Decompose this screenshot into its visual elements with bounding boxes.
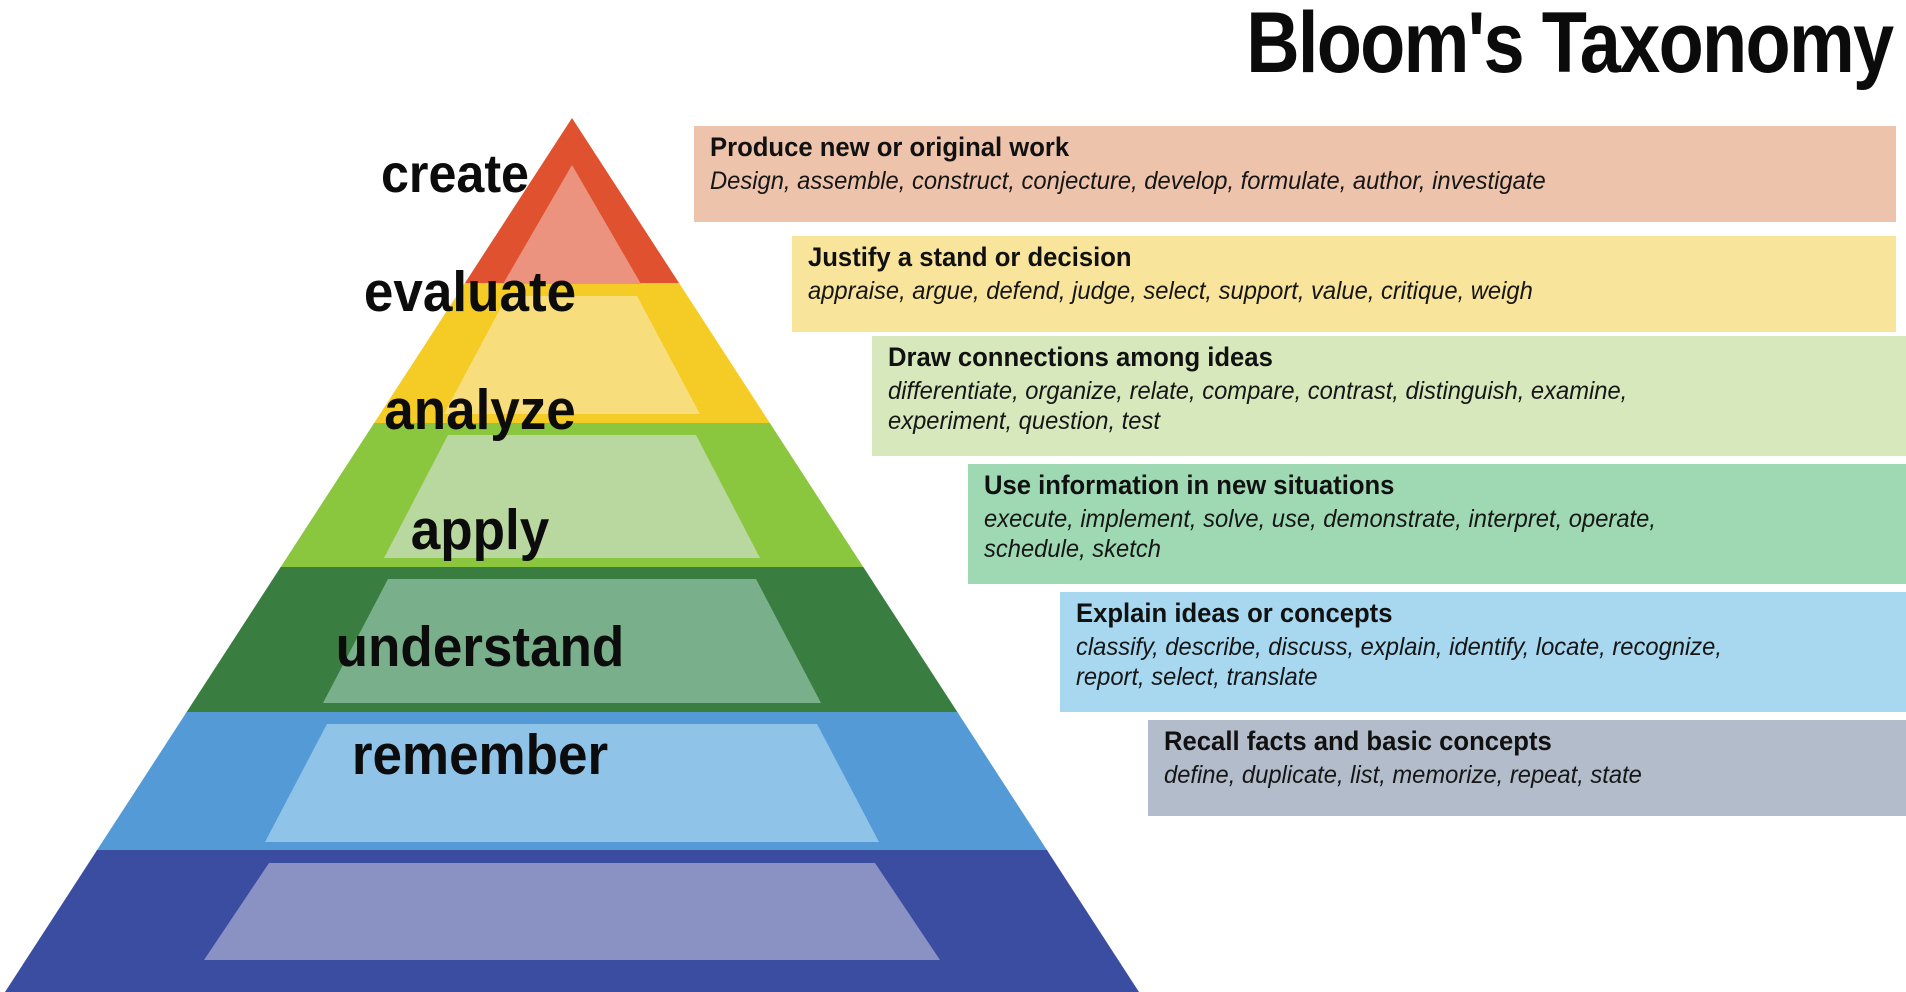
tier-label-create: create <box>339 143 572 205</box>
verb-line: report, select, translate <box>1076 662 1865 692</box>
callout-verbs-remember: define, duplicate, list, memorize, repea… <box>1164 760 1869 790</box>
verb-line: Design, assemble, construct, conjecture,… <box>710 166 1837 196</box>
callout-understand: Explain ideas or concepts classify, desc… <box>1060 592 1906 712</box>
callout-create: Produce new or original work Design, ass… <box>694 126 1896 222</box>
callout-analyze: Draw connections among ideas differentia… <box>872 336 1906 456</box>
tier-label-analyze: analyze <box>331 377 629 443</box>
callout-headline-remember: Recall facts and basic concepts <box>1164 726 1869 758</box>
band-remember-fill <box>204 863 940 960</box>
callout-verbs-create: Design, assemble, construct, conjecture,… <box>710 166 1837 196</box>
verb-line: define, duplicate, list, memorize, repea… <box>1164 760 1869 790</box>
tier-label-understand: understand <box>275 614 684 680</box>
page-title: Bloom's Taxonomy <box>1246 0 1892 88</box>
verb-line: classify, describe, discuss, explain, id… <box>1076 632 1865 662</box>
verb-line: differentiate, organize, relate, compare… <box>888 376 1855 406</box>
callout-remember: Recall facts and basic concepts define, … <box>1148 720 1906 816</box>
verb-line: experiment, question, test <box>888 406 1855 436</box>
callout-verbs-apply: execute, implement, solve, use, demonstr… <box>984 504 1860 564</box>
callout-headline-create: Produce new or original work <box>710 132 1837 164</box>
verb-line: schedule, sketch <box>984 534 1860 564</box>
callout-headline-evaluate: Justify a stand or decision <box>808 242 1842 274</box>
callout-evaluate: Justify a stand or decision appraise, ar… <box>792 236 1896 332</box>
verb-line: appraise, argue, defend, judge, select, … <box>808 276 1842 306</box>
callout-headline-analyze: Draw connections among ideas <box>888 342 1855 374</box>
callout-verbs-understand: classify, describe, discuss, explain, id… <box>1076 632 1865 692</box>
tier-label-evaluate: evaluate <box>312 259 628 325</box>
verb-line: execute, implement, solve, use, demonstr… <box>984 504 1860 534</box>
blooms-taxonomy-infographic: Bloom's Taxonomy <box>0 0 1906 992</box>
callout-apply: Use information in new situations execut… <box>968 464 1906 584</box>
callout-verbs-analyze: differentiate, organize, relate, compare… <box>888 376 1855 436</box>
tier-label-apply: apply <box>350 497 610 563</box>
callout-verbs-evaluate: appraise, argue, defend, judge, select, … <box>808 276 1842 306</box>
callout-headline-apply: Use information in new situations <box>984 470 1860 502</box>
callout-headline-understand: Explain ideas or concepts <box>1076 598 1865 630</box>
tier-label-remember: remember <box>294 722 666 788</box>
